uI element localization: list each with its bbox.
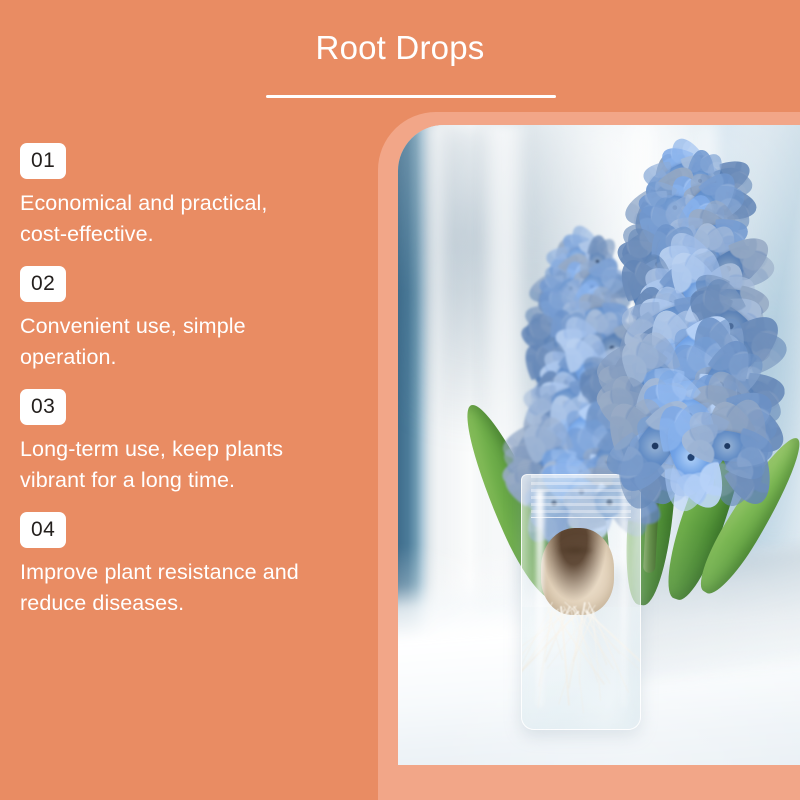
feature-list: 01 Economical and practical, cost-effect… <box>20 143 365 619</box>
bulb-soil <box>557 545 594 556</box>
photo-frame <box>378 112 800 800</box>
feature-number-badge: 04 <box>20 512 66 548</box>
feature-description: Long-term use, keep plants vibrant for a… <box>20 434 365 496</box>
page-title: Root Drops <box>0 26 800 70</box>
product-photo <box>398 125 800 765</box>
feature-description: Economical and practical, cost-effective… <box>20 188 365 250</box>
jar-highlight <box>621 490 627 708</box>
header: Root Drops <box>0 0 800 118</box>
glass-jar <box>521 474 642 730</box>
title-divider <box>266 95 556 98</box>
jar-highlight <box>536 490 544 708</box>
list-item: 03 Long-term use, keep plants vibrant fo… <box>20 389 365 496</box>
feature-number-badge: 02 <box>20 266 66 302</box>
list-item: 04 Improve plant resistance and reduce d… <box>20 512 365 619</box>
feature-description: Convenient use, simple operation. <box>20 311 365 373</box>
root-cluster <box>533 602 628 719</box>
feature-number-badge: 01 <box>20 143 66 179</box>
list-item: 01 Economical and practical, cost-effect… <box>20 143 365 250</box>
floret <box>691 426 762 465</box>
list-item: 02 Convenient use, simple operation. <box>20 266 365 373</box>
jar-neck <box>531 475 631 518</box>
feature-number-badge: 03 <box>20 389 66 425</box>
hyacinth-spike-right <box>615 151 768 522</box>
photo-scene <box>398 125 800 765</box>
feature-description: Improve plant resistance and reduce dise… <box>20 557 365 619</box>
poster-canvas: Root Drops 01 Economical and practical, … <box>0 0 800 800</box>
